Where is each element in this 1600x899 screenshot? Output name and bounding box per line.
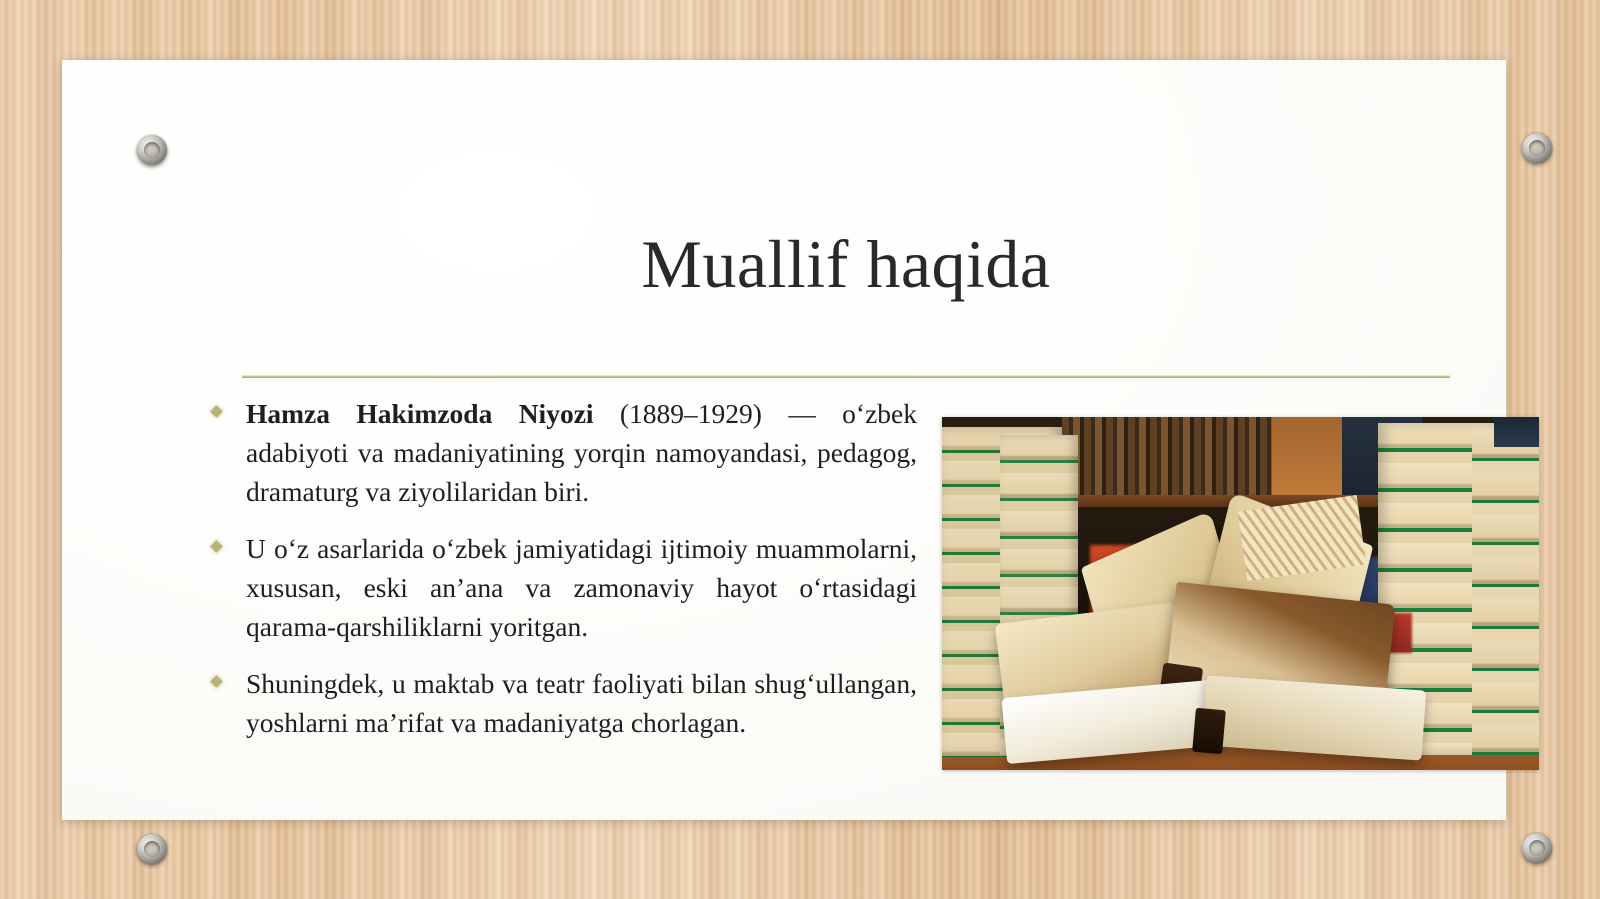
bullet-diamond-icon [210, 405, 223, 418]
photo-stack-right-inner [1472, 431, 1539, 755]
list-item: Hamza Hakimzoda Niyozi (1889–1929) — o‘z… [202, 394, 917, 511]
list-item: U o‘z asarlarida o‘zbek jamiyatidagi ijt… [202, 529, 917, 646]
bullet-rest-text: Shuningdek, u maktab va teatr faoliyati … [246, 668, 917, 738]
bullet-diamond-icon [210, 540, 223, 553]
slide-title: Muallif haqida [242, 230, 1450, 298]
screw-icon-top-left [137, 135, 167, 165]
bullet-diamond-icon [210, 675, 223, 688]
bullet-text: Hamza Hakimzoda Niyozi (1889–1929) — o‘z… [246, 394, 917, 511]
bullet-text: U o‘z asarlarida o‘zbek jamiyatidagi ijt… [246, 529, 917, 646]
books-photo [942, 417, 1539, 770]
slide-background: Muallif haqida Hamza Hakimzoda Niyozi (1… [0, 0, 1600, 899]
screw-icon-bottom-left [137, 834, 167, 864]
screw-icon-top-right [1522, 133, 1552, 163]
photo-front-book-spine [1192, 708, 1226, 754]
bullet-lead-text: Hamza Hakimzoda Niyozi [246, 398, 594, 429]
bullet-rest-text: U o‘z asarlarida o‘zbek jamiyatidagi ijt… [246, 533, 917, 642]
list-item: Shuningdek, u maktab va teatr faoliyati … [202, 664, 917, 742]
bullet-list: Hamza Hakimzoda Niyozi (1889–1929) — o‘z… [202, 394, 917, 742]
bullet-text: Shuningdek, u maktab va teatr faoliyati … [246, 664, 917, 742]
title-divider [242, 375, 1450, 378]
slide-panel: Muallif haqida Hamza Hakimzoda Niyozi (1… [62, 60, 1506, 820]
slide-body: Hamza Hakimzoda Niyozi (1889–1929) — o‘z… [202, 394, 1532, 834]
photo-stack-right-top-book [1494, 417, 1539, 447]
photo-spine-brown [1272, 417, 1342, 499]
screw-icon-bottom-right [1522, 833, 1552, 863]
